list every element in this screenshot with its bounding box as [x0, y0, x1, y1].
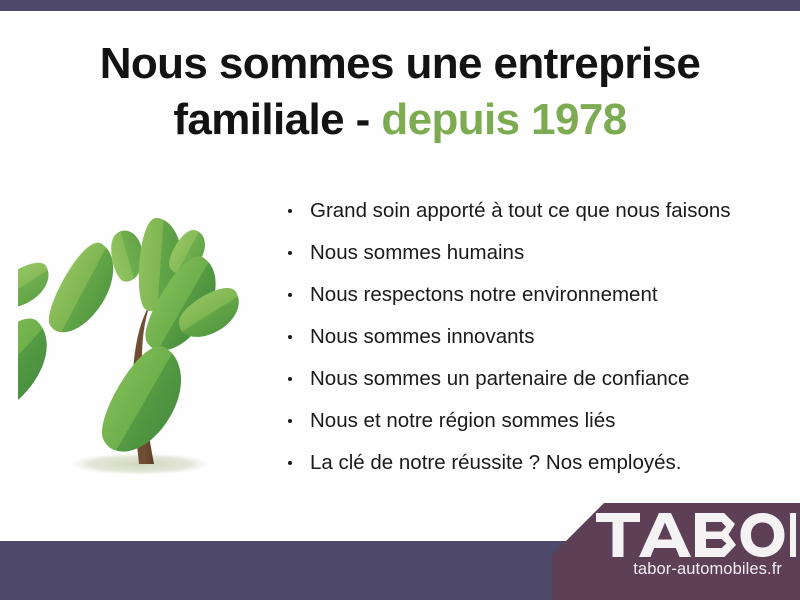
tabor-logo-wordmark: [596, 513, 796, 557]
slide-canvas: Nous sommes une entreprise familiale - d…: [0, 0, 800, 600]
headline-line-1: Nous sommes une entreprise: [100, 39, 701, 88]
list-item: Nous sommes innovants: [286, 316, 766, 358]
list-item: Nous respectons notre environnement: [286, 274, 766, 316]
bullet-dot-icon: [288, 251, 292, 255]
bullet-dot-icon: [288, 419, 292, 423]
bullet-dot-icon: [288, 209, 292, 213]
list-item: Nous sommes un partenaire de confiance: [286, 358, 766, 400]
list-item-label: Grand soin apporté à tout ce que nous fa…: [310, 199, 731, 222]
value-bullet-list: Grand soin apporté à tout ce que nous fa…: [286, 190, 766, 484]
tree-illustration: [18, 182, 274, 482]
list-item-label: Nous sommes un partenaire de confiance: [310, 367, 689, 390]
bullet-dot-icon: [288, 377, 292, 381]
page-title: Nous sommes une entreprise familiale - d…: [60, 36, 740, 149]
top-border-band: [0, 0, 800, 11]
headline-line-2-accent: depuis 1978: [381, 95, 626, 144]
logo-tagline: tabor-automobiles.fr: [552, 560, 790, 579]
list-item-label: Nous et notre région sommes liés: [310, 409, 615, 432]
list-item: Nous et notre région sommes liés: [286, 400, 766, 442]
list-item-label: La clé de notre réussite ? Nos employés.: [310, 451, 681, 474]
list-item: La clé de notre réussite ? Nos employés.: [286, 442, 766, 484]
list-item-label: Nous respectons notre environnement: [310, 283, 658, 306]
list-item: Nous sommes humains: [286, 232, 766, 274]
list-item-label: Nous sommes innovants: [310, 325, 534, 348]
list-item-label: Nous sommes humains: [310, 241, 524, 264]
list-item: Grand soin apporté à tout ce que nous fa…: [286, 190, 766, 232]
bullet-dot-icon: [288, 293, 292, 297]
bullet-dot-icon: [288, 461, 292, 465]
bullet-dot-icon: [288, 335, 292, 339]
headline-line-2-plain: familiale -: [173, 95, 369, 144]
